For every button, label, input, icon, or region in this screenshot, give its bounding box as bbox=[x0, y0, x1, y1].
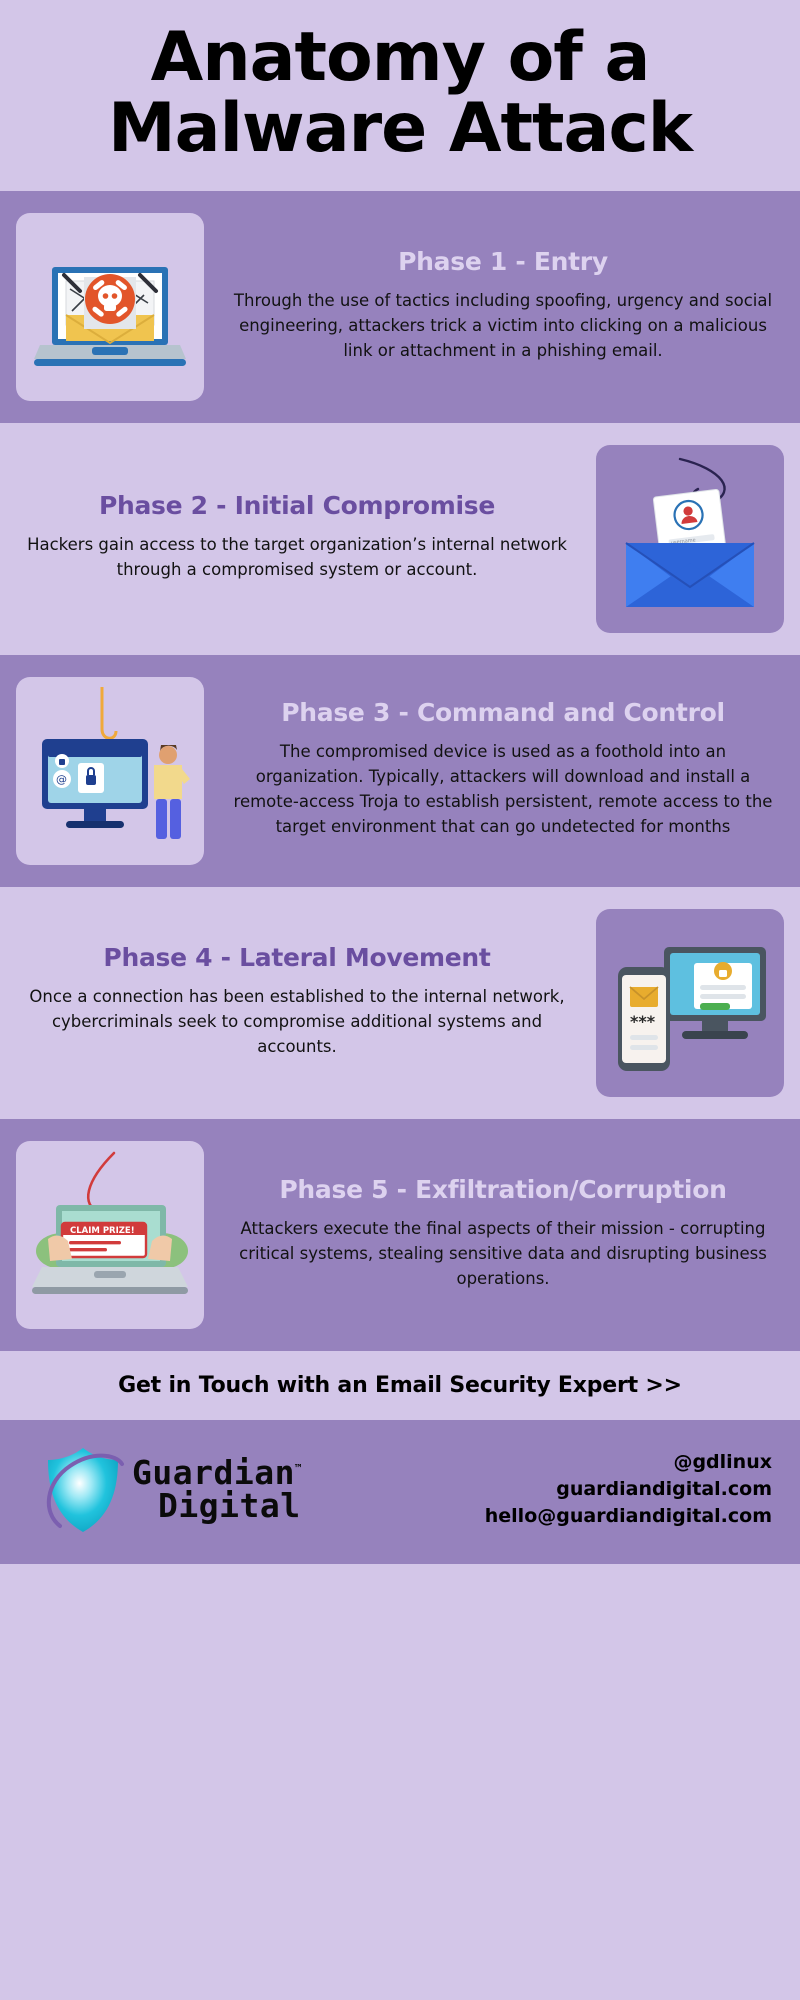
phase-1-copy: Phase 1 - Entry Through the use of tacti… bbox=[220, 231, 800, 383]
email-address[interactable]: hello@guardiandigital.com bbox=[485, 1503, 772, 1530]
phase-5-heading: Phase 5 - Exfiltration/Corruption bbox=[228, 1175, 778, 1204]
phase-1-body: Through the use of tactics including spo… bbox=[228, 288, 778, 363]
phone-and-monitor-login-illustration: *** bbox=[596, 909, 784, 1097]
phase-row-2: username •••••• Phase 2 - Initial Compro… bbox=[0, 423, 800, 655]
phase-row-5: CLAIM PRIZE! Phase 5 - Exfiltration/Corr… bbox=[0, 1119, 800, 1351]
laptop-skull-email-illustration bbox=[16, 213, 204, 401]
phase-4-body: Once a connection has been established t… bbox=[22, 984, 572, 1059]
phase-3-copy: Phase 3 - Command and Control The compro… bbox=[220, 682, 800, 859]
phase-row-3: @ Phase 3 - Command and C bbox=[0, 655, 800, 887]
at-symbol-icon: @ bbox=[56, 773, 67, 786]
cta-link[interactable]: Get in Touch with an Email Security Expe… bbox=[118, 1373, 682, 1398]
phase-3-body: The compromised device is used as a foot… bbox=[228, 739, 778, 839]
trademark-symbol: ™ bbox=[295, 1462, 302, 1475]
cta-bar[interactable]: Get in Touch with an Email Security Expe… bbox=[0, 1351, 800, 1420]
phase-3-art-wrap: @ bbox=[0, 655, 220, 887]
title-band: Anatomy of a Malware Attack bbox=[0, 0, 800, 191]
phase-5-art-wrap: CLAIM PRIZE! bbox=[0, 1119, 220, 1351]
contact-block: @gdlinux guardiandigital.com hello@guard… bbox=[485, 1449, 772, 1530]
claim-prize-label: CLAIM PRIZE! bbox=[70, 1226, 135, 1236]
phone-password-dots: *** bbox=[630, 1012, 656, 1031]
phase-1-art-wrap bbox=[0, 191, 220, 423]
phase-5-copy: Phase 5 - Exfiltration/Corruption Attack… bbox=[220, 1159, 800, 1311]
phase-1-heading: Phase 1 - Entry bbox=[228, 247, 778, 276]
footer: Guardian™ Digital @gdlinux guardiandigit… bbox=[0, 1420, 800, 1564]
brand-line-2: Digital bbox=[132, 1490, 302, 1522]
brand-wordmark: Guardian™ Digital bbox=[132, 1457, 302, 1522]
phase-2-heading: Phase 2 - Initial Compromise bbox=[22, 491, 572, 520]
phase-4-heading: Phase 4 - Lateral Movement bbox=[22, 943, 572, 972]
website-url[interactable]: guardiandigital.com bbox=[485, 1476, 772, 1503]
phase-4-art-wrap: *** bbox=[580, 887, 800, 1119]
monitor-hook-password-person-illustration: @ bbox=[16, 677, 204, 865]
social-handle[interactable]: @gdlinux bbox=[485, 1449, 772, 1476]
phase-row-1: Phase 1 - Entry Through the use of tacti… bbox=[0, 191, 800, 423]
brand-lockup: Guardian™ Digital bbox=[40, 1442, 302, 1538]
phase-4-copy: Phase 4 - Lateral Movement Once a connec… bbox=[0, 927, 580, 1079]
page-title: Anatomy of a Malware Attack bbox=[40, 22, 760, 165]
laptop-claim-prize-phishing-hook-illustration: CLAIM PRIZE! bbox=[16, 1141, 204, 1329]
phase-2-copy: Phase 2 - Initial Compromise Hackers gai… bbox=[0, 475, 580, 602]
guardian-digital-shield-logo-icon bbox=[40, 1442, 126, 1538]
phase-5-body: Attackers execute the final aspects of t… bbox=[228, 1216, 778, 1291]
phase-row-4: *** Phase 4 - Lateral Movement Once a co… bbox=[0, 887, 800, 1119]
phase-3-heading: Phase 3 - Command and Control bbox=[228, 698, 778, 727]
infographic-page: Anatomy of a Malware Attack bbox=[0, 0, 800, 1564]
phase-2-art-wrap: username •••••• bbox=[580, 423, 800, 655]
envelope-id-badge-phishing-hook-illustration: username •••••• bbox=[596, 445, 784, 633]
phase-2-body: Hackers gain access to the target organi… bbox=[22, 532, 572, 582]
